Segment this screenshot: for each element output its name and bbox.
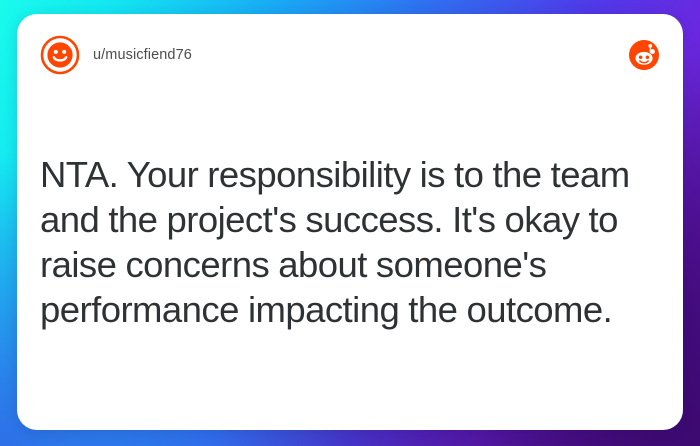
reddit-quote-card: u/musicfiend76	[17, 14, 683, 430]
quote-text: NTA. Your responsibility is to the team …	[40, 152, 663, 332]
username-label: u/musicfiend76	[93, 47, 192, 63]
quote-card-canvas: u/musicfiend76	[0, 0, 700, 446]
reddit-logo-icon[interactable]	[629, 40, 659, 70]
card-header: u/musicfiend76	[17, 14, 683, 96]
smiley-face-avatar-icon[interactable]	[40, 35, 80, 75]
